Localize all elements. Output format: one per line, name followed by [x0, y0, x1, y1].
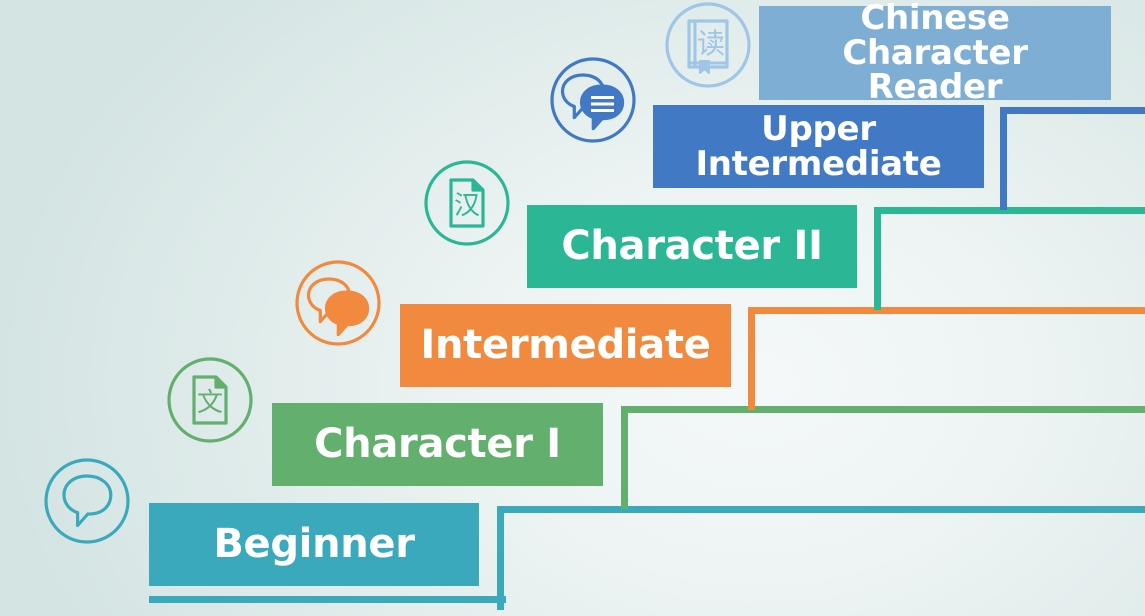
step-bar-chinese-character-reader[interactable]: Chinese Character Reader	[759, 6, 1111, 100]
speech-bubble-icon	[40, 456, 134, 546]
riser-horizontal-intermediate	[748, 307, 1145, 314]
step-label-chinese-character-reader: Chinese Character Reader	[773, 1, 1097, 105]
step-label-beginner: Beginner	[213, 524, 414, 565]
step-label-intermediate: Intermediate	[420, 325, 710, 366]
svg-text:读: 读	[697, 27, 725, 60]
riser-horizontal-character-ii	[874, 207, 1145, 214]
step-bar-upper-intermediate[interactable]: Upper Intermediate	[653, 105, 984, 188]
step-bar-beginner[interactable]: Beginner	[149, 503, 479, 586]
svg-text:文: 文	[197, 388, 223, 418]
riser-vertical-character-ii	[874, 207, 881, 310]
svg-text:汉: 汉	[454, 191, 480, 221]
riser-horizontal-beginner	[497, 506, 1145, 513]
riser-vertical-beginner	[497, 506, 504, 610]
riser-vertical-intermediate	[748, 307, 755, 410]
step-bar-character-i[interactable]: Character I	[272, 403, 603, 486]
baseline-beginner	[149, 596, 506, 603]
staircase-infographic: Beginner 文 Character I	[0, 0, 1145, 616]
step-bar-character-ii[interactable]: Character II	[527, 205, 857, 288]
step-label-upper-intermediate: Upper Intermediate	[695, 112, 941, 181]
step-bar-intermediate[interactable]: Intermediate	[400, 304, 731, 387]
double-speech-bubble-lines-icon	[546, 55, 640, 145]
riser-vertical-character-i	[621, 406, 628, 509]
step-label-character-ii: Character II	[561, 226, 822, 267]
document-han-icon: 汉	[420, 158, 514, 248]
step-label-character-i: Character I	[314, 424, 561, 465]
document-wen-icon: 文	[163, 355, 257, 445]
book-du-icon: 读	[661, 0, 755, 90]
riser-vertical-upper-intermediate	[1000, 107, 1007, 210]
double-speech-bubble-icon	[291, 258, 385, 348]
riser-horizontal-upper-intermediate	[1000, 107, 1145, 114]
riser-horizontal-character-i	[621, 406, 1145, 413]
